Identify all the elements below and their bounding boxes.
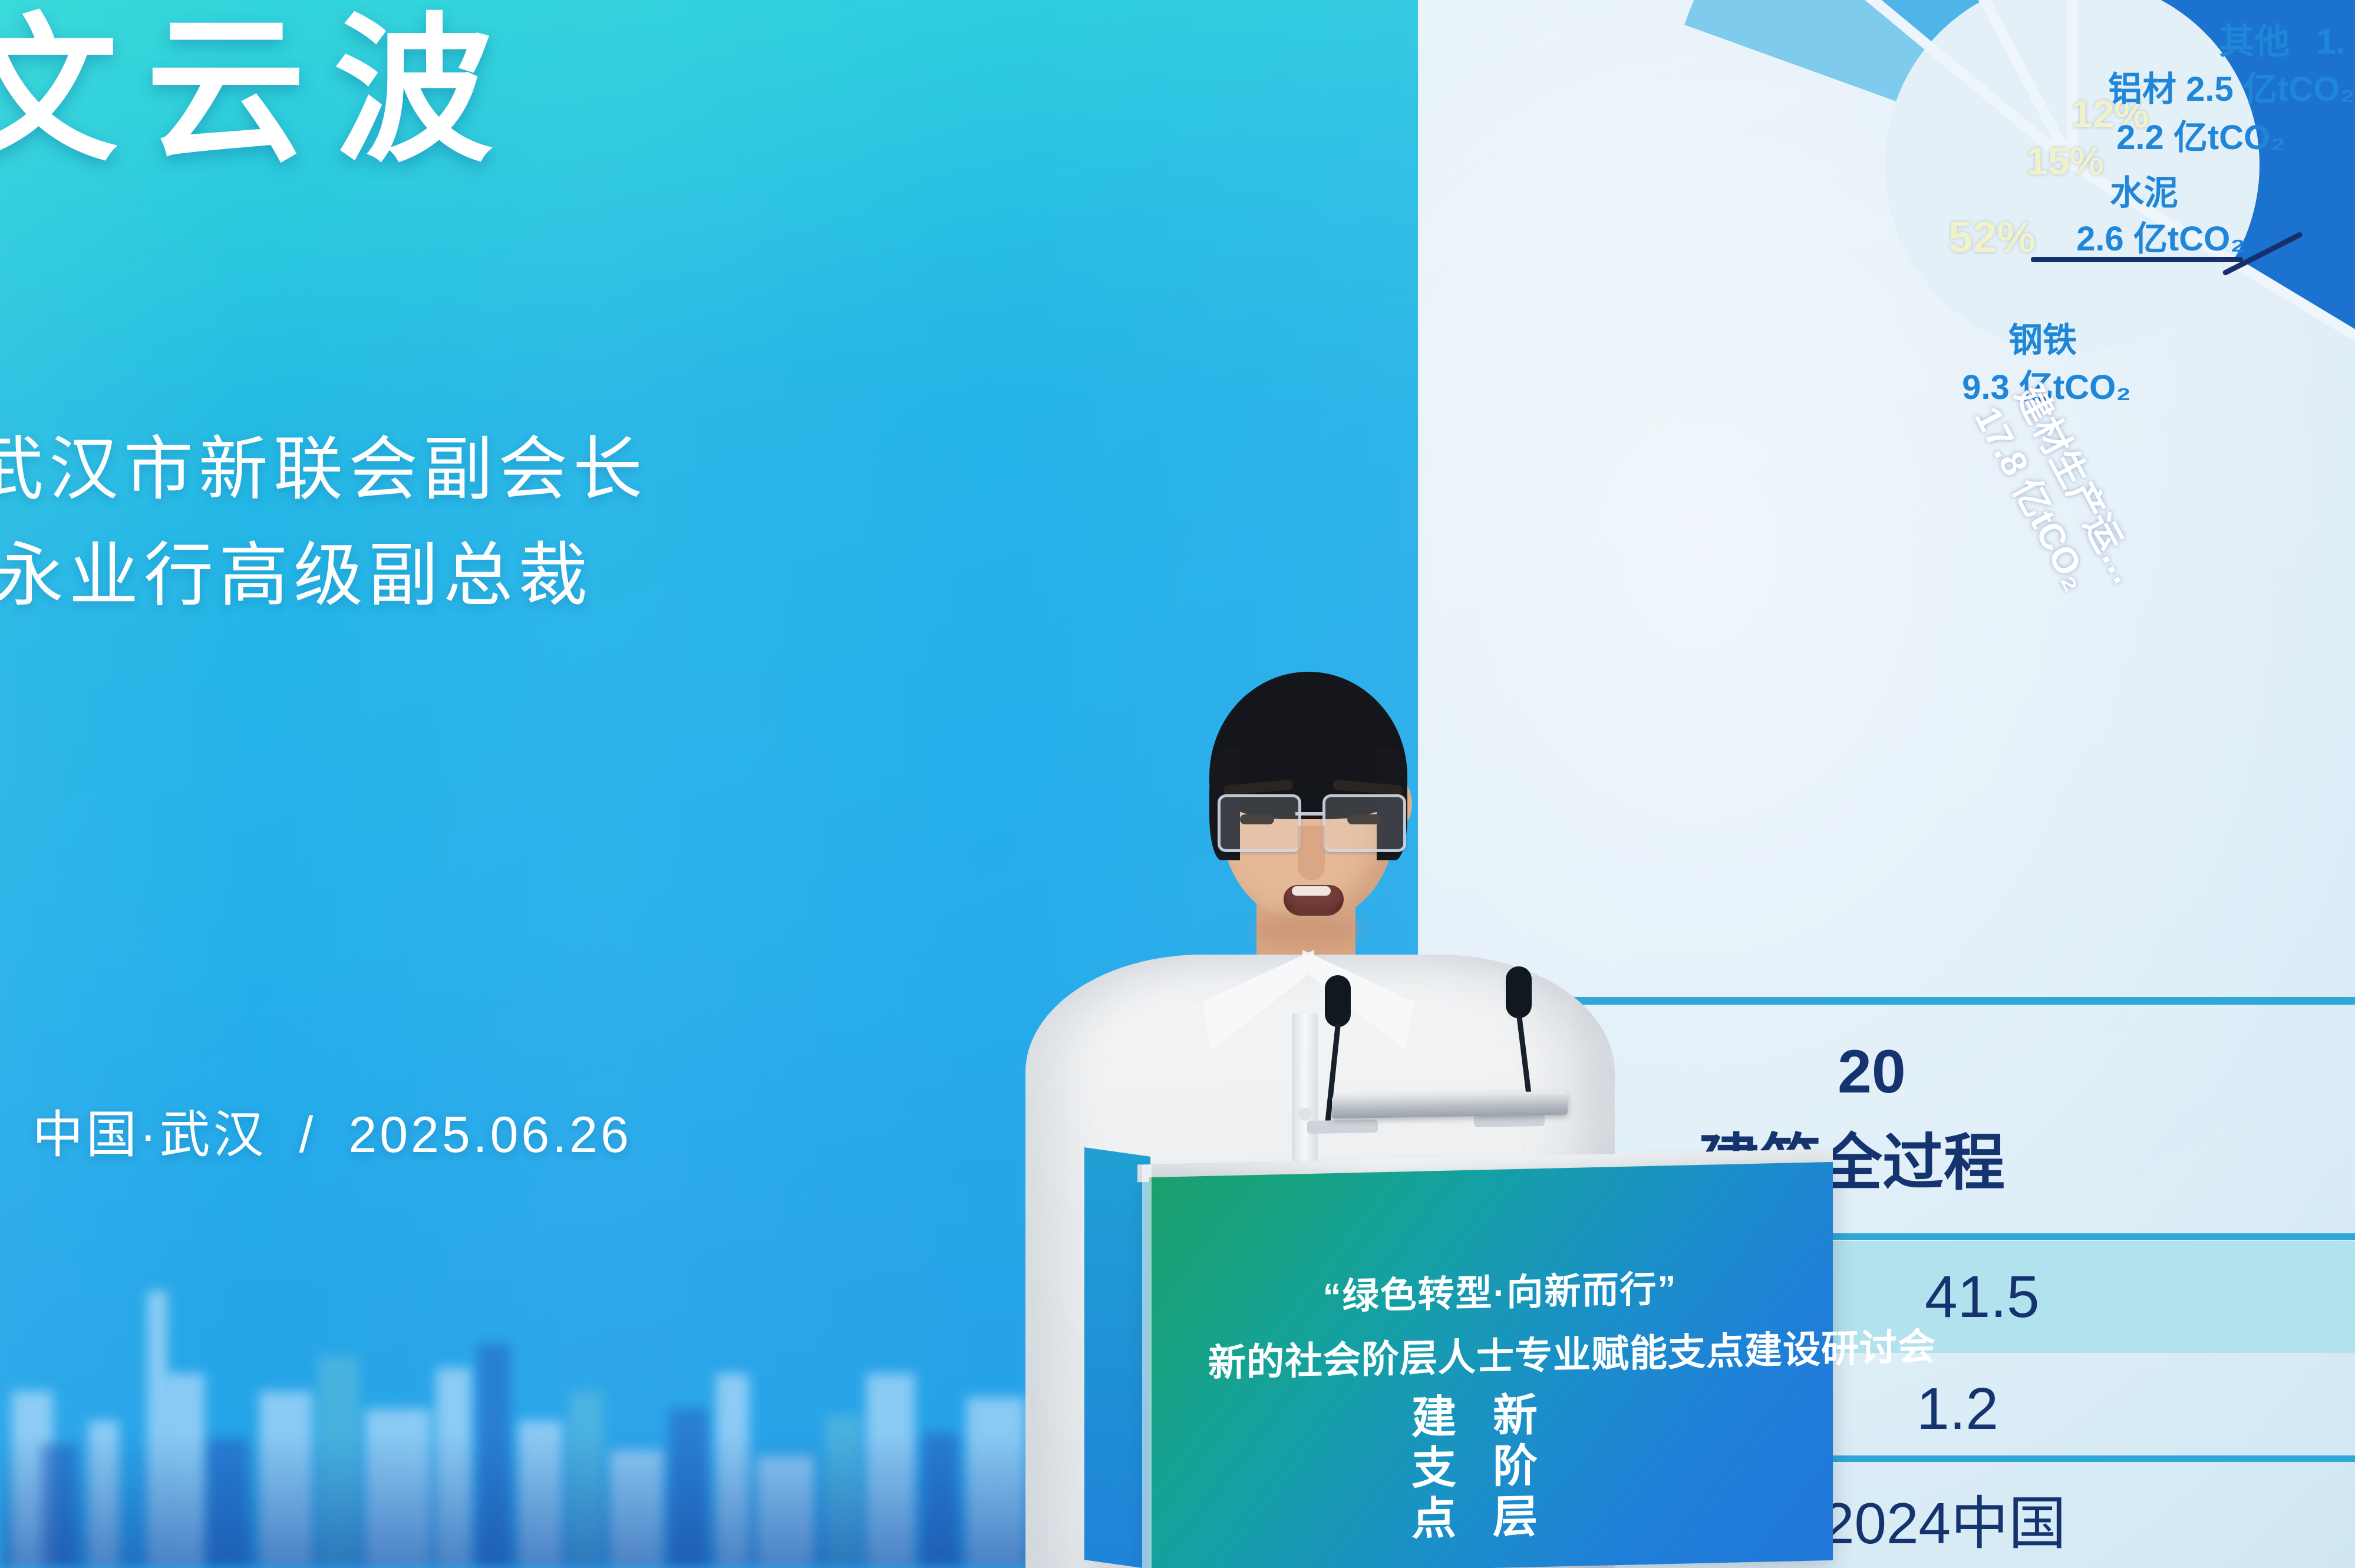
podium-vertical-slogan: 建支点 新阶层 [1397,1391,1543,1546]
microphone-head [1325,975,1351,1027]
conference-photo-scene: 文云波 武汉市新联会副会长 永业行高级副总裁 中国·武汉 / 2025.06.2… [0,0,2355,1568]
teeth [1292,886,1331,896]
chin-shadow [1253,915,1363,946]
chart-label-cement: 水泥 [2110,165,2178,214]
slide-year-heading: 20 [1838,1037,1906,1107]
podium-title-block: “绿色转型·向新而行” 新的社会阶层人士专业赋能支点建设研讨会 [1208,1256,1792,1387]
podium-side-panel [1084,1147,1150,1568]
slice-percent-steel: 52% [1948,212,2036,262]
chart-label-aluminium-value-2: 2.2 亿tCO₂ [2116,110,2285,159]
table-row-value: 1.2 [1917,1375,1998,1443]
podium-vertical-left: 建支点 [1397,1392,1462,1546]
podium-edge-highlight [1142,1165,1152,1568]
nose [1298,826,1325,880]
slice-percent-cement: 15% [2026,138,2104,183]
table-row-value: 41.5 [1925,1263,2040,1331]
place-date-separator: / [284,1107,332,1163]
chart-label-other: 其他 1. [2219,13,2346,64]
glasses-lens-left [1218,794,1301,852]
microphone-head [1506,966,1532,1018]
date-label: 2025.06.26 [348,1107,631,1163]
cement-leader-rule [2031,257,2243,262]
glasses-lens-right [1322,794,1406,852]
podium-vertical-right: 新阶层 [1478,1391,1543,1544]
glasses-bridge [1295,812,1322,816]
podium: “绿色转型·向新而行” 新的社会阶层人士专业赋能支点建设研讨会 建支点 新阶层 [1137,1111,1833,1568]
chart-label-cement-value: 2.6 亿tCO₂ [2076,211,2245,260]
speaker-role-line-1: 武汉市新联会副会长 [0,412,648,513]
place-label: 中国·武汉 [32,1107,267,1163]
speaker-name: 文云波 [0,8,521,176]
place-and-date: 中国·武汉 / 2025.06.26 [32,1093,632,1167]
chart-label-aluminium: 铝材 2.5 亿tCO₂ [2108,61,2355,111]
slide-rule-top [1571,997,2355,1005]
speaker-role-line-2: 永业行高级副总裁 [0,519,593,619]
chart-label-steel: 钢铁 [2008,312,2077,362]
